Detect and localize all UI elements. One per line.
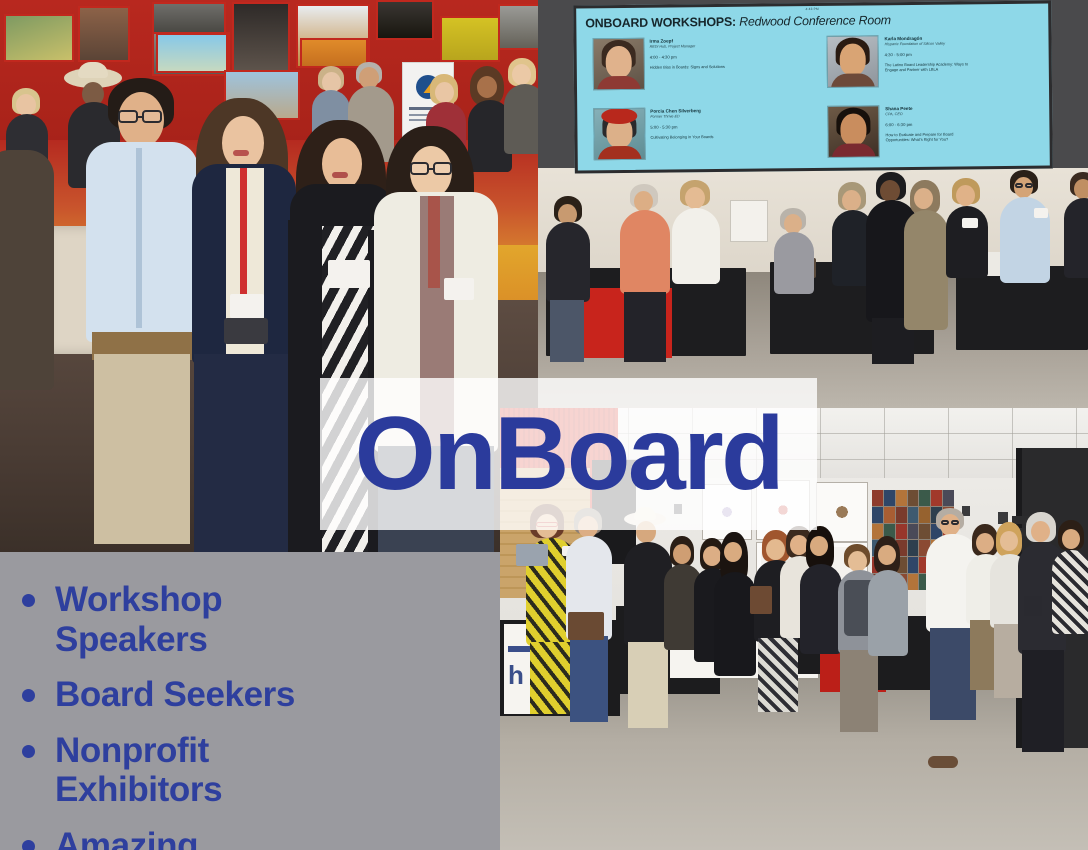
bullet-list: Workshop Speakers Board Seekers Nonprofi… — [0, 552, 500, 850]
bullet-text: Workshop Speakers — [55, 580, 355, 659]
bullet-dot-icon — [22, 840, 35, 850]
wall-image — [300, 38, 368, 68]
speaker-portrait — [827, 105, 880, 158]
wall-image — [156, 33, 228, 73]
wall-image — [376, 0, 434, 40]
speaker-portrait — [593, 108, 646, 161]
page-title: OnBoard — [355, 402, 782, 506]
wall-image — [78, 6, 130, 62]
slide-session-2: Karla Mondragón Hispanic Foundation of S… — [826, 34, 997, 98]
speaker-time: 5:00 - 5:30 pm — [650, 123, 732, 129]
bullet-panel: Workshop Speakers Board Seekers Nonprofi… — [0, 552, 500, 850]
projection-screen: 4:43 PM ONBOARD WORKSHOPS: Redwood Confe… — [573, 1, 1053, 174]
speaker-role: REDI Hub, Project Manager — [650, 44, 732, 50]
photo-collage: 4:43 PM ONBOARD WORKSHOPS: Redwood Confe… — [0, 0, 1088, 850]
wall-image — [498, 4, 538, 50]
slide-session-4: Shana Peete CPA, CEO 6:00 - 6:30 pm How … — [827, 104, 998, 168]
wall-image — [152, 2, 226, 36]
speaker-topic: Cultivating Belonging in Your Boards — [650, 134, 732, 140]
speaker-topic: The Latino Board Leadership Academy: Way… — [885, 61, 977, 72]
title-banner: OnBoard — [320, 378, 817, 530]
slide-title-italic: Redwood Conference Room — [736, 13, 891, 29]
bullet-dot-icon — [22, 745, 35, 758]
wall-poster — [730, 200, 768, 242]
wall-image — [232, 2, 290, 72]
bullet-text: Board Seekers — [55, 675, 295, 715]
bullet-text: Amazing Opportunities — [55, 826, 355, 850]
slide-session-1: Irma Zoepf REDI Hub, Project Manager 4:0… — [592, 37, 741, 101]
speaker-role: CPA, CEO — [885, 111, 977, 117]
speaker-role: Hispanic Foundation of Silicon Valley — [885, 41, 977, 47]
slide-title: ONBOARD WORKSHOPS: Redwood Conference Ro… — [585, 12, 1042, 31]
speaker-topic: Hidden Bias in Boards: Signs and Solutio… — [650, 64, 732, 70]
wall-image — [4, 14, 74, 62]
speaker-time: 4:00 - 4:30 pm — [650, 53, 732, 59]
slide-session-3: Porcia Chen Silverberg Former Thrive ED … — [593, 107, 754, 171]
speaker-role: Former Thrive ED — [650, 114, 732, 120]
bullet-text: Nonprofit Exhibitors — [55, 731, 355, 810]
slide-title-bold: ONBOARD WORKSHOPS: — [585, 15, 736, 31]
speaker-portrait — [592, 38, 645, 91]
list-item: Board Seekers — [22, 675, 500, 715]
list-item: Nonprofit Exhibitors — [22, 731, 500, 810]
speaker-topic: How to Evaluate and Prepare for Board Op… — [885, 131, 977, 142]
wall-image — [440, 16, 500, 62]
speaker-time: 6:00 - 6:30 pm — [885, 121, 977, 127]
list-item: Amazing Opportunities — [22, 826, 500, 850]
slide-clock: 4:43 PM — [806, 7, 819, 11]
photo-workshop-slide: 4:43 PM ONBOARD WORKSHOPS: Redwood Confe… — [538, 0, 1088, 408]
bullet-dot-icon — [22, 689, 35, 702]
list-item: Workshop Speakers — [22, 580, 500, 659]
speaker-portrait — [826, 35, 879, 88]
speaker-time: 4:30 - 5:00 pm — [885, 51, 977, 57]
bullet-dot-icon — [22, 594, 35, 607]
